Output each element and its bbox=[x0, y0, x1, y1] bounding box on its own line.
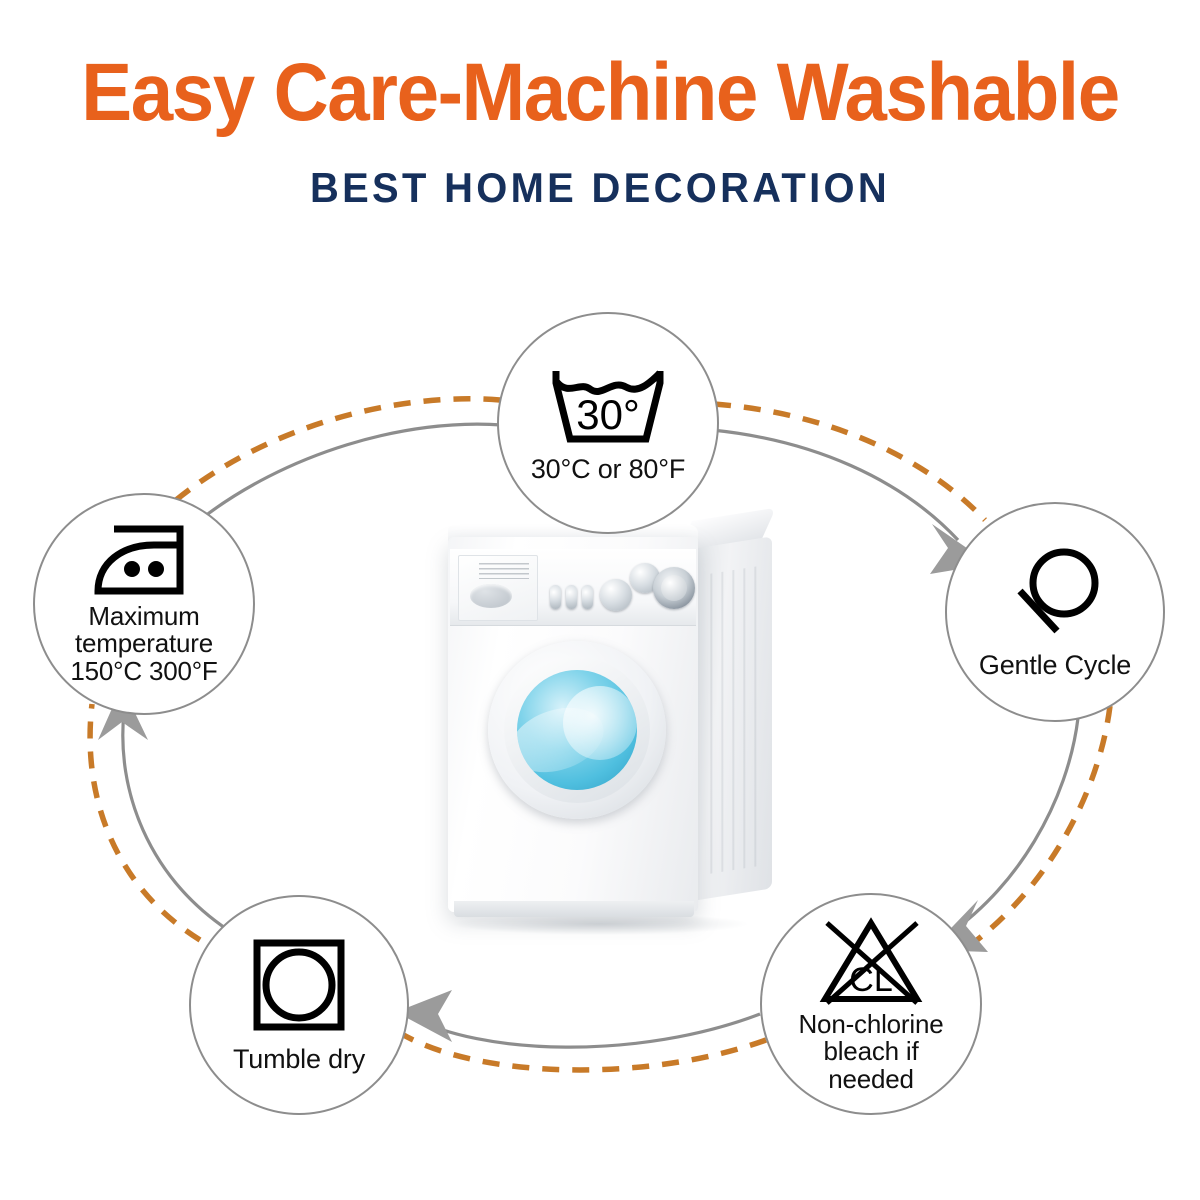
step-non-chlorine-bleach[interactable]: CL Non-chlorine bleach if needed bbox=[760, 893, 982, 1115]
step-iron-label: Maximum temperature 150°C 300°F bbox=[70, 603, 217, 686]
panel-button-2[interactable] bbox=[566, 585, 577, 609]
washer-door[interactable] bbox=[488, 641, 666, 819]
step-wash-label: 30°C or 80°F bbox=[531, 455, 685, 484]
iron-two-dots-icon bbox=[88, 523, 200, 599]
wash-tub-30-icon: 30° bbox=[548, 363, 668, 447]
panel-button-1[interactable] bbox=[550, 585, 561, 609]
washer-control-panel bbox=[450, 549, 696, 626]
program-selector-dial[interactable] bbox=[653, 567, 695, 609]
step-tumble-label: Tumble dry bbox=[233, 1045, 365, 1074]
gentle-cycle-circle-icon bbox=[1000, 545, 1110, 641]
non-chlorine-bleach-crossed-icon: CL bbox=[813, 915, 929, 1009]
door-ring bbox=[504, 657, 650, 803]
washer-side-ribs bbox=[702, 565, 764, 875]
washer-base bbox=[454, 901, 694, 917]
washing-machine-image bbox=[430, 515, 790, 940]
arc-tumble-to-iron bbox=[90, 686, 228, 940]
door-glass bbox=[517, 670, 637, 790]
drawer-label-text bbox=[479, 563, 529, 579]
step-wash-temperature[interactable]: 30° 30°C or 80°F bbox=[497, 312, 719, 534]
care-cycle-diagram: .solidArc { fill:none; stroke:#8d8d8d; s… bbox=[0, 0, 1200, 1200]
panel-dial-small[interactable] bbox=[600, 579, 632, 611]
step-gentle-cycle[interactable]: Gentle Cycle bbox=[945, 502, 1165, 722]
drawer-handle[interactable] bbox=[470, 584, 512, 608]
arc-iron-to-wash bbox=[176, 399, 502, 523]
tumble-dry-square-circle-icon bbox=[251, 937, 347, 1033]
step-bleach-label: Non-chlorine bleach if needed bbox=[798, 1011, 943, 1094]
promo-infographic: Easy Care-Machine Washable BEST HOME DEC… bbox=[0, 0, 1200, 1200]
arc-bleach-to-tumble bbox=[396, 990, 766, 1070]
panel-button-3[interactable] bbox=[582, 585, 593, 609]
arc-gentle-to-bleach bbox=[930, 706, 1110, 956]
svg-text:30°: 30° bbox=[576, 391, 640, 438]
detergent-drawer[interactable] bbox=[458, 555, 538, 621]
step-gentle-label: Gentle Cycle bbox=[979, 651, 1131, 680]
step-tumble-dry[interactable]: Tumble dry bbox=[189, 895, 409, 1115]
step-iron-temperature[interactable]: Maximum temperature 150°C 300°F bbox=[33, 493, 255, 715]
